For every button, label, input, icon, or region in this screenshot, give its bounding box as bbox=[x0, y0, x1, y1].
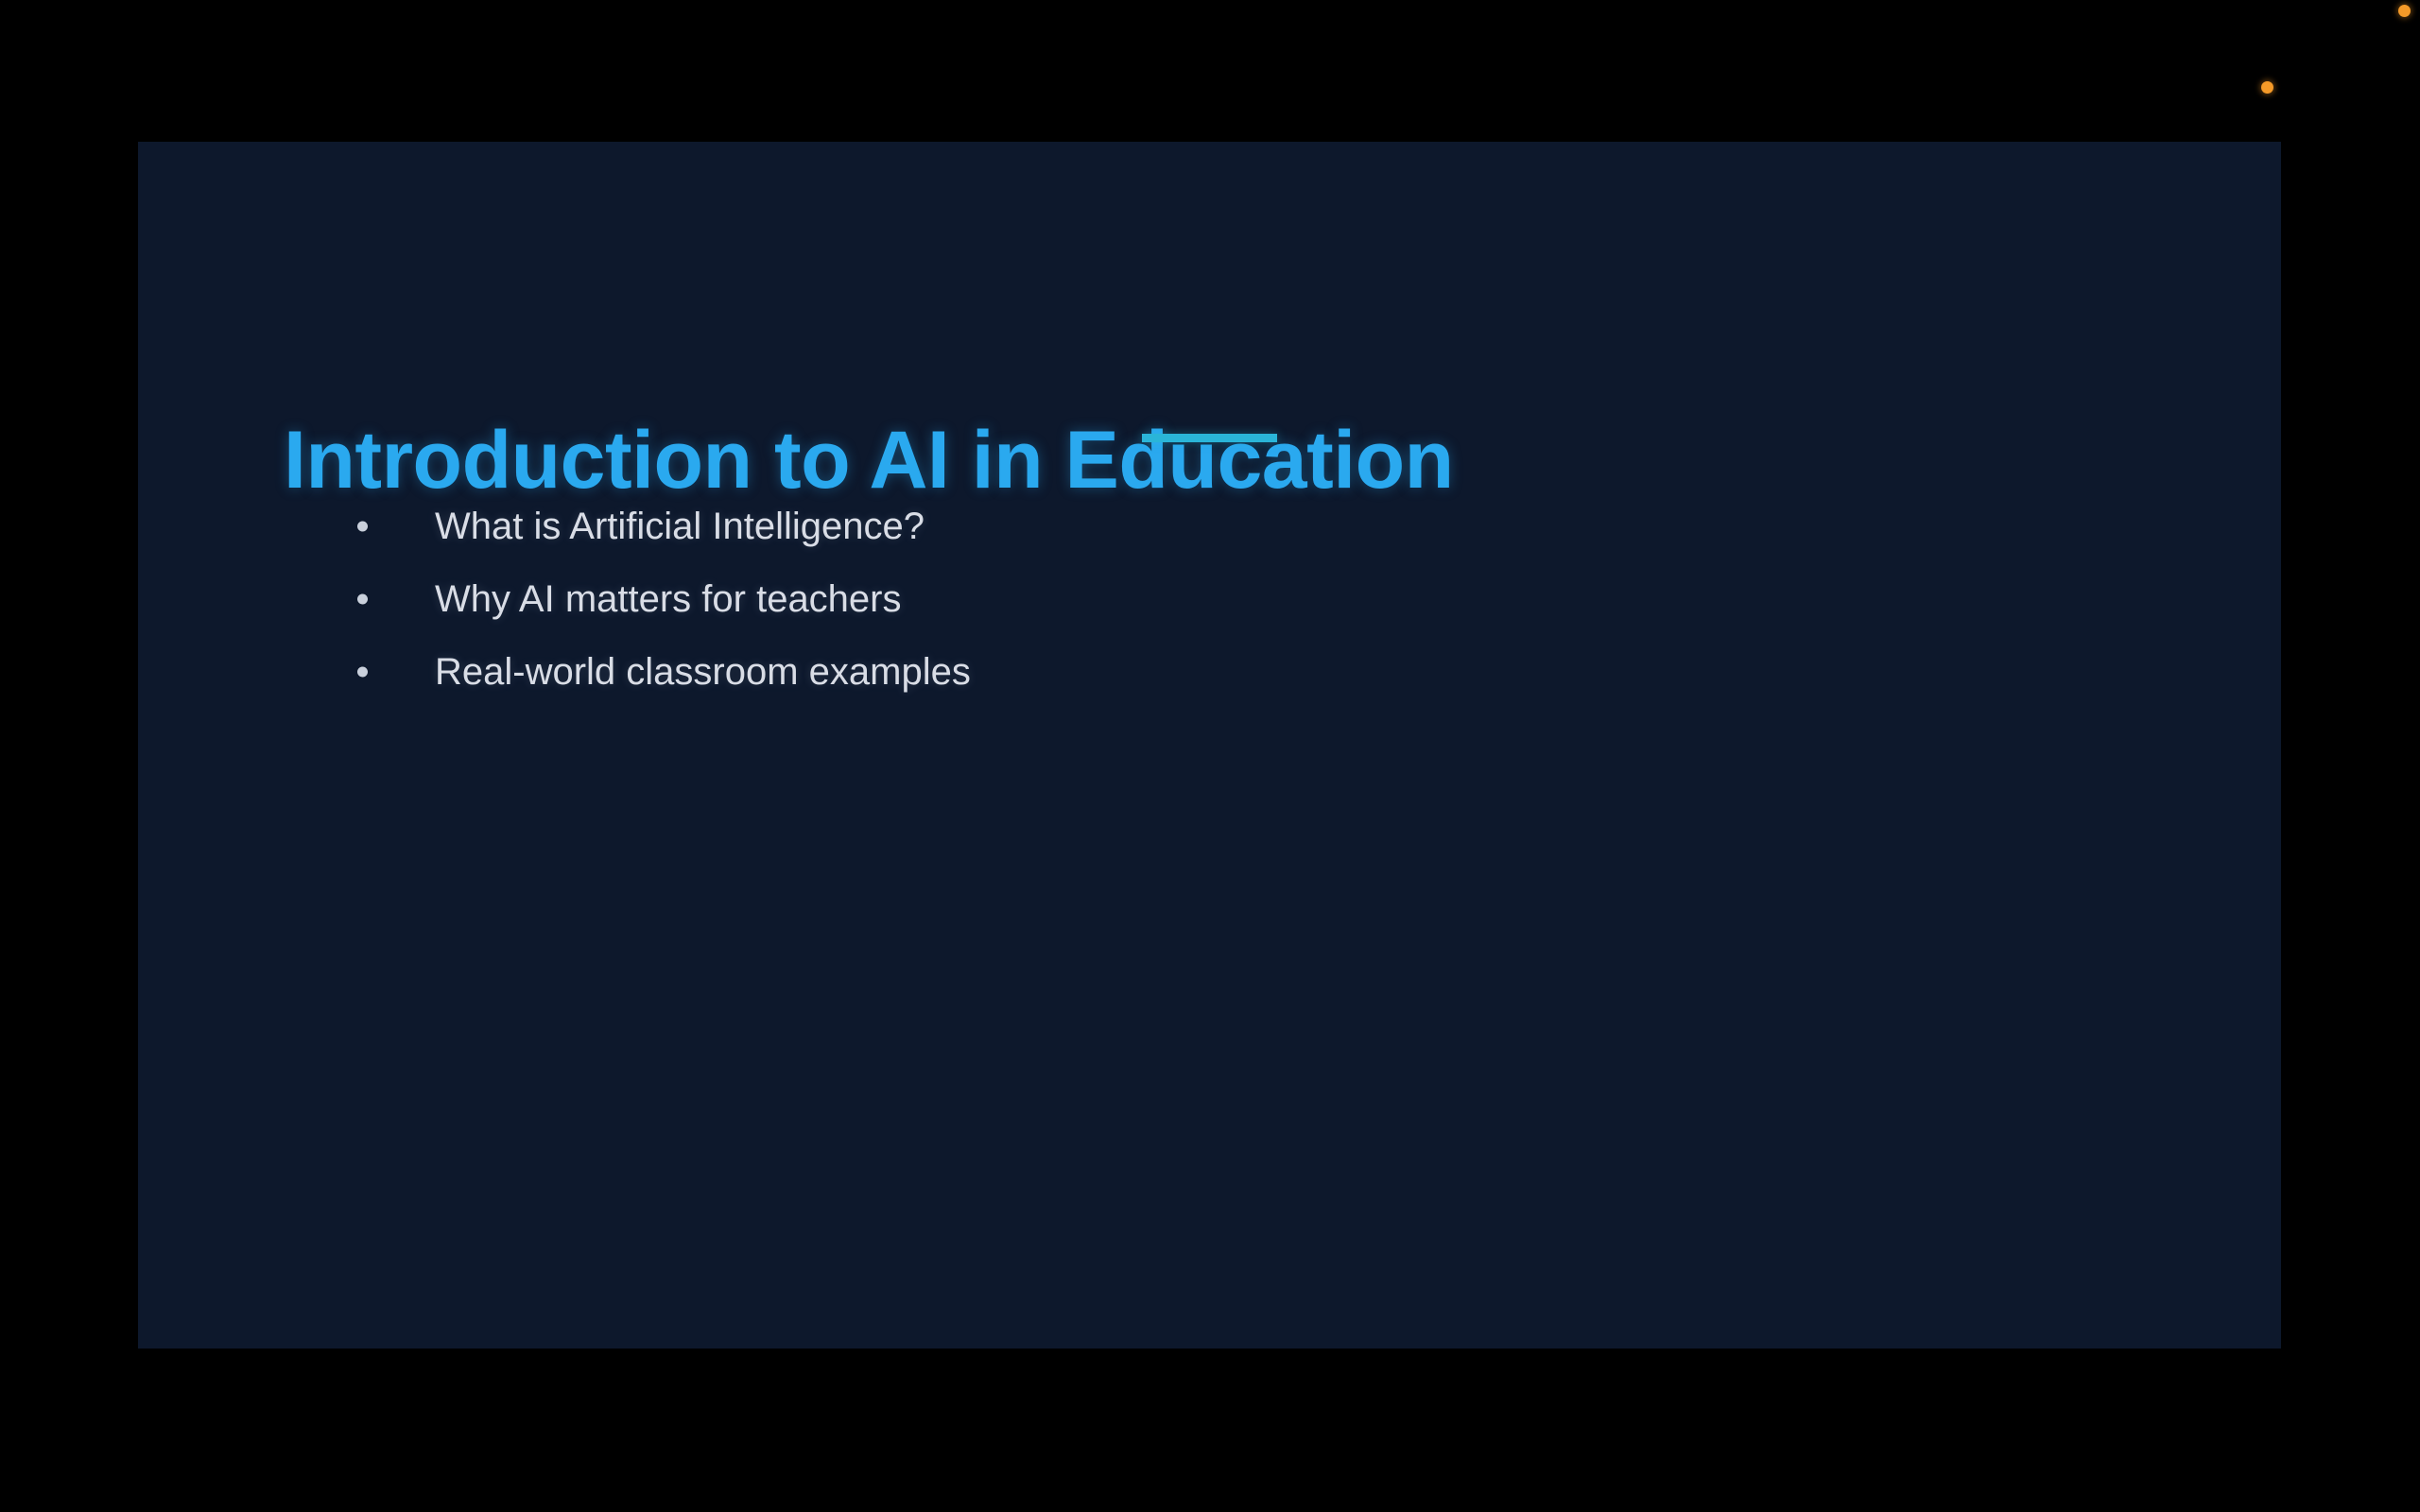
marker-dot-icon bbox=[2398, 5, 2411, 17]
marker-dot-icon bbox=[2261, 81, 2273, 94]
bullet-dot-icon bbox=[357, 593, 368, 604]
list-item-label: Why AI matters for teachers bbox=[435, 578, 902, 620]
slide-canvas[interactable]: Introduction to AI in Education What is … bbox=[138, 142, 2281, 1349]
bullet-dot-icon bbox=[357, 666, 368, 677]
presentation-stage: Introduction to AI in Education What is … bbox=[0, 0, 2420, 1512]
list-item-label: Real-world classroom examples bbox=[435, 651, 971, 693]
list-item[interactable]: What is Artificial Intelligence? bbox=[284, 490, 2127, 562]
bullet-list: What is Artificial Intelligence? Why AI … bbox=[284, 490, 2127, 708]
list-item[interactable]: Why AI matters for teachers bbox=[284, 562, 2127, 635]
list-item[interactable]: Real-world classroom examples bbox=[284, 635, 2127, 708]
list-item-label: What is Artificial Intelligence? bbox=[435, 506, 925, 547]
title-accent-bar bbox=[1142, 434, 1277, 442]
bullet-dot-icon bbox=[357, 521, 368, 531]
